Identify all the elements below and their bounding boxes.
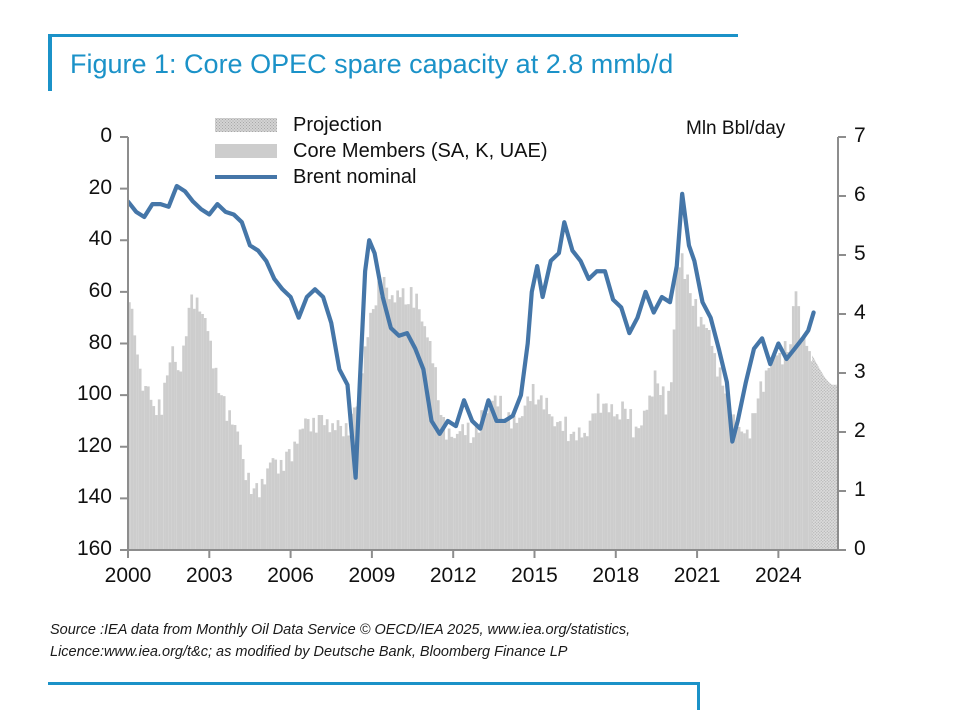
x-axis-tick-2012: 2012 bbox=[413, 564, 493, 588]
left-axis-tick-0: 0 bbox=[52, 124, 112, 148]
right-axis-tick-0: 0 bbox=[854, 537, 894, 561]
unit-label: Mln Bbl/day bbox=[686, 118, 785, 140]
bottom-accent-tick bbox=[697, 682, 700, 710]
core-members-swatch-icon bbox=[215, 144, 277, 158]
projection-swatch-icon bbox=[215, 118, 277, 132]
left-axis-tick-20: 20 bbox=[52, 176, 112, 200]
right-axis-tick-5: 5 bbox=[854, 242, 894, 266]
legend-label-core-members: Core Members (SA, K, UAE) bbox=[293, 140, 548, 163]
page-title: Figure 1: Core OPEC spare capacity at 2.… bbox=[70, 49, 673, 80]
left-axis-tick-140: 140 bbox=[52, 485, 112, 509]
slide-root: Figure 1: Core OPEC spare capacity at 2.… bbox=[0, 0, 964, 719]
source-note: Source :IEA data from Monthly Oil Data S… bbox=[50, 620, 870, 664]
x-axis-tick-2006: 2006 bbox=[251, 564, 331, 588]
left-axis-tick-60: 60 bbox=[52, 279, 112, 303]
bars-core-members bbox=[128, 253, 814, 550]
right-axis-tick-3: 3 bbox=[854, 360, 894, 384]
legend-item-projection: Projection bbox=[215, 112, 548, 138]
x-axis-tick-2003: 2003 bbox=[169, 564, 249, 588]
x-axis-tick-2021: 2021 bbox=[657, 564, 737, 588]
legend-label-projection: Projection bbox=[293, 114, 382, 137]
legend-label-brent: Brent nominal bbox=[293, 166, 416, 189]
right-axis-tick-1: 1 bbox=[854, 478, 894, 502]
x-axis-tick-2000: 2000 bbox=[88, 564, 168, 588]
right-axis-tick-4: 4 bbox=[854, 301, 894, 325]
brent-line-swatch-icon bbox=[215, 175, 277, 179]
title-accent-bar bbox=[48, 37, 52, 91]
source-line-2: Licence:www.iea.org/t&c; as modified by … bbox=[50, 642, 870, 664]
x-axis-tick-2024: 2024 bbox=[738, 564, 818, 588]
left-axis-tick-40: 40 bbox=[52, 227, 112, 251]
left-axis-tick-120: 120 bbox=[52, 434, 112, 458]
left-axis-tick-100: 100 bbox=[52, 382, 112, 406]
bars-projection bbox=[812, 355, 838, 550]
legend-item-core-members: Core Members (SA, K, UAE) bbox=[215, 138, 548, 164]
legend-item-brent: Brent nominal bbox=[215, 164, 548, 190]
left-axis-tick-80: 80 bbox=[52, 331, 112, 355]
x-axis-tick-2009: 2009 bbox=[332, 564, 412, 588]
right-axis-tick-2: 2 bbox=[854, 419, 894, 443]
figure-title-block: Figure 1: Core OPEC spare capacity at 2.… bbox=[48, 36, 908, 92]
right-axis-tick-7: 7 bbox=[854, 124, 894, 148]
right-axis-tick-6: 6 bbox=[854, 183, 894, 207]
chart-legend: Projection Core Members (SA, K, UAE) Bre… bbox=[215, 112, 548, 190]
bottom-accent-rule bbox=[48, 682, 700, 685]
left-axis-tick-160: 160 bbox=[52, 537, 112, 561]
x-axis-tick-2018: 2018 bbox=[576, 564, 656, 588]
x-axis-tick-2015: 2015 bbox=[494, 564, 574, 588]
source-line-1: Source :IEA data from Monthly Oil Data S… bbox=[50, 620, 870, 642]
